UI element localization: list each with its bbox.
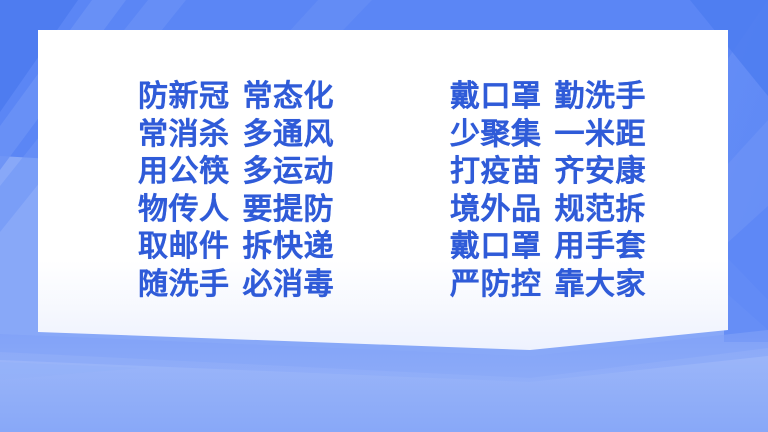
slogan-phrase-a: 打疫苗 — [450, 153, 542, 191]
slogan-row: 物传人 要提防 — [138, 191, 334, 229]
slogan-row: 随洗手 必消毒 — [138, 266, 334, 304]
slogan-phrase-a: 随洗手 — [138, 266, 230, 304]
slogan-phrase-b: 多通风 — [243, 116, 335, 154]
slogan-phrase-b: 规范拆 — [555, 191, 647, 229]
slogan-board: 防新冠 常态化 常消杀 多通风 用公筷 多运动 物传人 要提防 — [0, 0, 768, 432]
slogan-phrase-b: 靠大家 — [555, 266, 647, 304]
slogan-phrase-a: 用公筷 — [138, 153, 230, 191]
slogan-phrase-b: 齐安康 — [555, 153, 647, 191]
slogan-phrase-b: 要提防 — [243, 191, 335, 229]
poster-canvas: 防新冠 常态化 常消杀 多通风 用公筷 多运动 物传人 要提防 — [0, 0, 768, 432]
slogan-columns: 防新冠 常态化 常消杀 多通风 用公筷 多运动 物传人 要提防 — [138, 78, 646, 303]
right-column: 戴口罩 勤洗手 少聚集 一米距 打疫苗 齐安康 境外品 规范拆 — [450, 78, 646, 303]
slogan-row: 少聚集 一米距 — [450, 116, 646, 154]
slogan-row: 用公筷 多运动 — [138, 153, 334, 191]
slogan-row: 防新冠 常态化 — [138, 78, 334, 116]
slogan-phrase-a: 境外品 — [450, 191, 542, 229]
slogan-phrase-a: 严防控 — [450, 266, 542, 304]
slogan-phrase-b: 多运动 — [243, 153, 335, 191]
slogan-phrase-a: 戴口罩 — [450, 228, 542, 266]
slogan-phrase-b: 必消毒 — [243, 266, 335, 304]
slogan-row: 境外品 规范拆 — [450, 191, 646, 229]
slogan-row: 戴口罩 用手套 — [450, 228, 646, 266]
slogan-phrase-a: 防新冠 — [138, 78, 230, 116]
slogan-phrase-a: 常消杀 — [138, 116, 230, 154]
left-column: 防新冠 常态化 常消杀 多通风 用公筷 多运动 物传人 要提防 — [138, 78, 334, 303]
slogan-phrase-a: 少聚集 — [450, 116, 542, 154]
slogan-row: 严防控 靠大家 — [450, 266, 646, 304]
slogan-row: 取邮件 拆快递 — [138, 228, 334, 266]
slogan-phrase-b: 一米距 — [555, 116, 647, 154]
slogan-phrase-a: 戴口罩 — [450, 78, 542, 116]
slogan-phrase-a: 物传人 — [138, 191, 230, 229]
slogan-row: 戴口罩 勤洗手 — [450, 78, 646, 116]
slogan-phrase-b: 常态化 — [243, 78, 335, 116]
slogan-row: 打疫苗 齐安康 — [450, 153, 646, 191]
slogan-row: 常消杀 多通风 — [138, 116, 334, 154]
slogan-phrase-a: 取邮件 — [138, 228, 230, 266]
slogan-phrase-b: 拆快递 — [243, 228, 335, 266]
slogan-phrase-b: 用手套 — [555, 228, 647, 266]
slogan-phrase-b: 勤洗手 — [555, 78, 647, 116]
